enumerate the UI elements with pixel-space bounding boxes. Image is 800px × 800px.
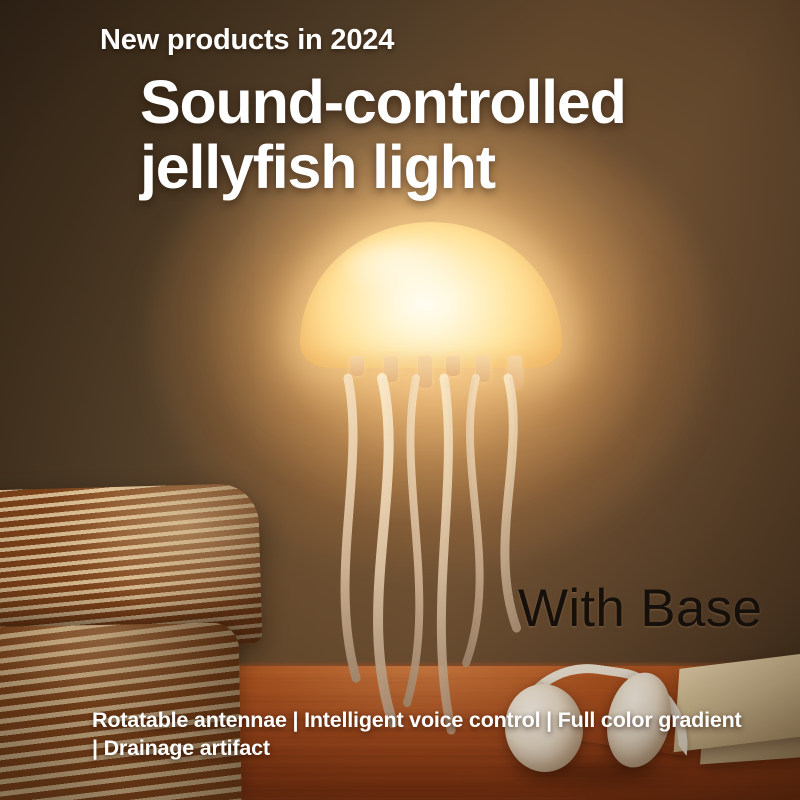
product-poster: New products in 2024 Sound-controlled je… [0, 0, 800, 800]
headline-line-2: jellyfish light [140, 135, 760, 200]
page-title: Sound-controlled jellyfish light [140, 70, 760, 199]
headline-line-1: Sound-controlled [140, 68, 626, 136]
feature-list-text: Rotatable antennae | Intelligent voice c… [92, 706, 752, 763]
eyebrow-text: New products in 2024 [100, 24, 394, 57]
with-base-badge: With Base [518, 578, 762, 639]
